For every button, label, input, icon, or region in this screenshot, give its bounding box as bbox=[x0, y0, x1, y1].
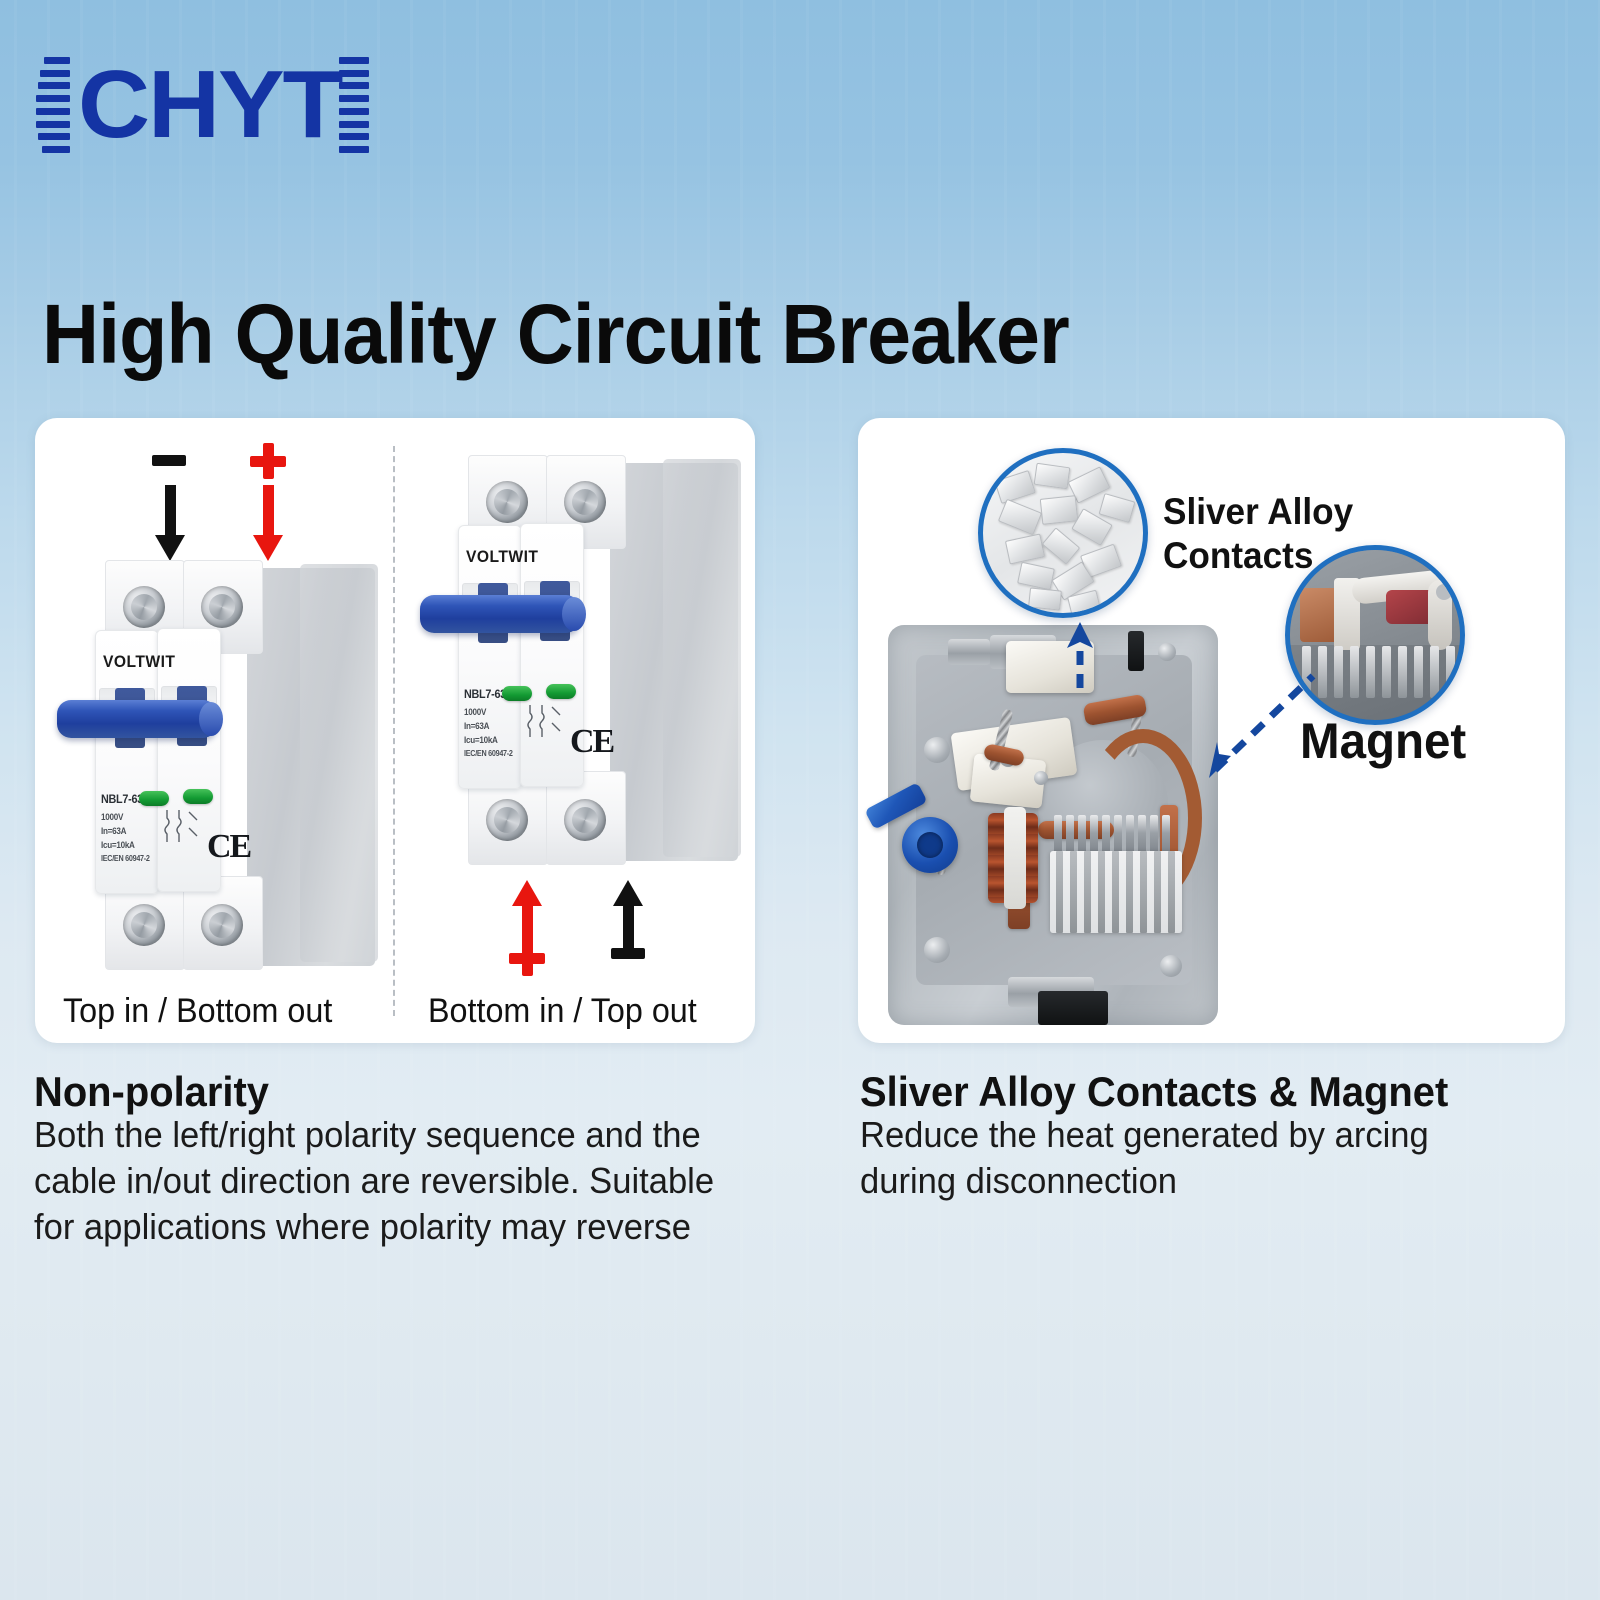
breaker-ce-mark-b: CE bbox=[570, 723, 613, 761]
page-title: High Quality Circuit Breaker bbox=[42, 286, 1069, 383]
panel-divider bbox=[393, 446, 395, 1016]
breaker-product-a: VOLTWIT NBL7-63 1000V In=63A Icu=10kA IE… bbox=[95, 560, 375, 980]
breaker-spec-standard-b: IEC/EN 60947-2 bbox=[464, 749, 513, 758]
breaker-led-b bbox=[502, 686, 532, 701]
breaker-product-b: VOLTWIT NBL7-63 1000V In=63A Icu=10kA IE… bbox=[458, 455, 738, 875]
caption-bottom-in-top-out: Bottom in / Top out bbox=[428, 992, 697, 1031]
breaker-spec-breaking-a: Icu=10kA bbox=[101, 840, 135, 850]
magnet-pointer-arrow bbox=[1205, 660, 1335, 785]
breaker-brand-a: VOLTWIT bbox=[103, 652, 175, 672]
feature-body-non-polarity: Both the left/right polarity sequence an… bbox=[34, 1112, 764, 1250]
logo-wordmark: CHYT bbox=[78, 61, 341, 149]
plus-sign-top-a bbox=[250, 443, 286, 479]
breaker-schematic-a bbox=[161, 806, 205, 853]
minus-sign-top-a bbox=[152, 455, 186, 466]
breaker-cutaway-illustration bbox=[888, 625, 1228, 1025]
feature-title-non-polarity: Non-polarity bbox=[34, 1068, 269, 1116]
breaker-spec-voltage-a: 1000V bbox=[101, 812, 123, 822]
brand-logo: CHYT bbox=[36, 52, 373, 158]
logo-left-bars bbox=[36, 57, 70, 153]
breaker-brand-b: VOLTWIT bbox=[466, 547, 538, 567]
breaker-spec-voltage-b: 1000V bbox=[464, 707, 486, 717]
breaker-spec-current-a: In=63A bbox=[101, 826, 126, 836]
feature-title-contacts-magnet: Sliver Alloy Contacts & Magnet bbox=[860, 1068, 1448, 1116]
feature-body-contacts-magnet: Reduce the heat generated by arcing duri… bbox=[860, 1112, 1522, 1204]
contacts-label-line1: Sliver Alloy bbox=[1163, 491, 1353, 532]
breaker-spec-current-b: In=63A bbox=[464, 721, 489, 731]
breaker-model-b: NBL7-63 bbox=[464, 687, 506, 701]
breaker-spec-standard-a: IEC/EN 60947-2 bbox=[101, 854, 150, 863]
plus-sign-bottom-b bbox=[509, 940, 545, 976]
breaker-led-a bbox=[139, 791, 169, 806]
breaker-spec-breaking-b: Icu=10kA bbox=[464, 735, 498, 745]
breaker-led-b2 bbox=[546, 684, 576, 699]
caption-top-in-bottom-out: Top in / Bottom out bbox=[63, 992, 332, 1031]
minus-sign-bottom-b bbox=[611, 948, 645, 959]
breaker-ce-mark-a: CE bbox=[207, 828, 250, 866]
logo-right-bars bbox=[339, 57, 373, 153]
breaker-schematic-b bbox=[524, 701, 568, 748]
breaker-toggle-a bbox=[57, 700, 217, 738]
breaker-toggle-b bbox=[420, 595, 580, 633]
lock-wheel-icon bbox=[902, 817, 958, 873]
contacts-pointer-arrow bbox=[1060, 620, 1130, 695]
breaker-led-a2 bbox=[183, 789, 213, 804]
silver-alloy-contacts-inset bbox=[978, 448, 1148, 618]
breaker-model-a: NBL7-63 bbox=[101, 792, 143, 806]
